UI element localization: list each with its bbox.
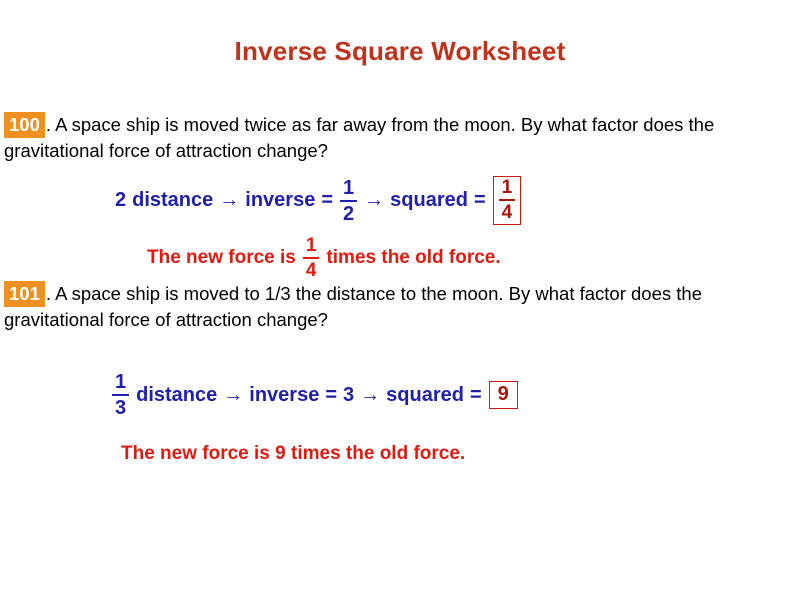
fraction-one-third: 1 3 bbox=[112, 372, 129, 418]
question-block-100: 100. A space ship is moved twice as far … bbox=[4, 112, 764, 163]
fraction-numerator: 1 bbox=[499, 178, 516, 197]
arrow-icon-1-101: → bbox=[220, 384, 246, 407]
equation-word-inverse-100: inverse bbox=[242, 189, 318, 212]
equation-word-squared-101: squared bbox=[383, 384, 467, 407]
worksheet-slide: Inverse Square Worksheet 100. A space sh… bbox=[0, 0, 800, 600]
equation-word-distance-101: distance bbox=[133, 384, 220, 407]
answer-prefix-100: The new force is bbox=[144, 247, 299, 269]
fraction-denominator: 4 bbox=[499, 203, 516, 222]
fraction-one-fourth: 1 4 bbox=[499, 178, 516, 222]
fraction-bar bbox=[499, 199, 516, 201]
question-text-100: A space ship is moved twice as far away … bbox=[4, 114, 714, 161]
equation-line-101: 1 3 distance → inverse = 3 → squared = 9 bbox=[108, 372, 518, 418]
question-number-dot-100: . bbox=[46, 114, 51, 135]
fraction-bar bbox=[112, 394, 129, 396]
answer-line-101: The new force is 9 times the old force. bbox=[118, 443, 468, 465]
equation-word-squared-100: squared bbox=[387, 189, 471, 212]
equation-line-100: 2 distance → inverse = 1 2 → squared = 1… bbox=[112, 176, 521, 225]
equation-equals-2-101: = bbox=[467, 384, 485, 407]
answer-fraction-one-fourth: 1 4 bbox=[303, 236, 320, 280]
fraction-bar bbox=[303, 257, 320, 259]
equation-equals-1-100: = bbox=[318, 189, 336, 212]
question-number-badge-100: 100 bbox=[4, 112, 45, 138]
fraction-bar bbox=[340, 200, 357, 202]
equation-inverse-value-101: 3 bbox=[340, 384, 357, 407]
arrow-icon-2-101: → bbox=[357, 384, 383, 407]
fraction-numerator: 1 bbox=[303, 236, 320, 255]
boxed-answer-101: 9 bbox=[489, 381, 518, 409]
question-number-dot-101: . bbox=[46, 283, 51, 304]
equation-word-distance-100: distance bbox=[129, 189, 216, 212]
equation-equals-1-101: = bbox=[322, 384, 340, 407]
equation-word-inverse-101: inverse bbox=[246, 384, 322, 407]
question-number-badge-101: 101 bbox=[4, 281, 45, 307]
question-text-101: A space ship is moved to 1/3 the distanc… bbox=[4, 283, 702, 330]
answer-suffix-100: times the old force. bbox=[323, 247, 503, 269]
arrow-icon-2-100: → bbox=[361, 189, 387, 212]
equation-lead-100: 2 bbox=[112, 189, 129, 212]
fraction-numerator: 1 bbox=[340, 178, 357, 198]
boxed-answer-100: 1 4 bbox=[493, 176, 522, 225]
fraction-denominator: 2 bbox=[340, 204, 357, 224]
fraction-numerator: 1 bbox=[112, 372, 129, 392]
answer-line-100: The new force is 1 4 times the old force… bbox=[144, 236, 504, 280]
arrow-icon-1-100: → bbox=[216, 189, 242, 212]
fraction-denominator: 4 bbox=[303, 261, 320, 280]
equation-equals-2-100: = bbox=[471, 189, 489, 212]
answer-text-101: The new force is 9 times the old force. bbox=[118, 443, 468, 465]
fraction-one-half: 1 2 bbox=[340, 178, 357, 224]
fraction-denominator: 3 bbox=[112, 398, 129, 418]
question-block-101: 101. A space ship is moved to 1/3 the di… bbox=[4, 281, 779, 332]
page-title: Inverse Square Worksheet bbox=[0, 36, 800, 67]
